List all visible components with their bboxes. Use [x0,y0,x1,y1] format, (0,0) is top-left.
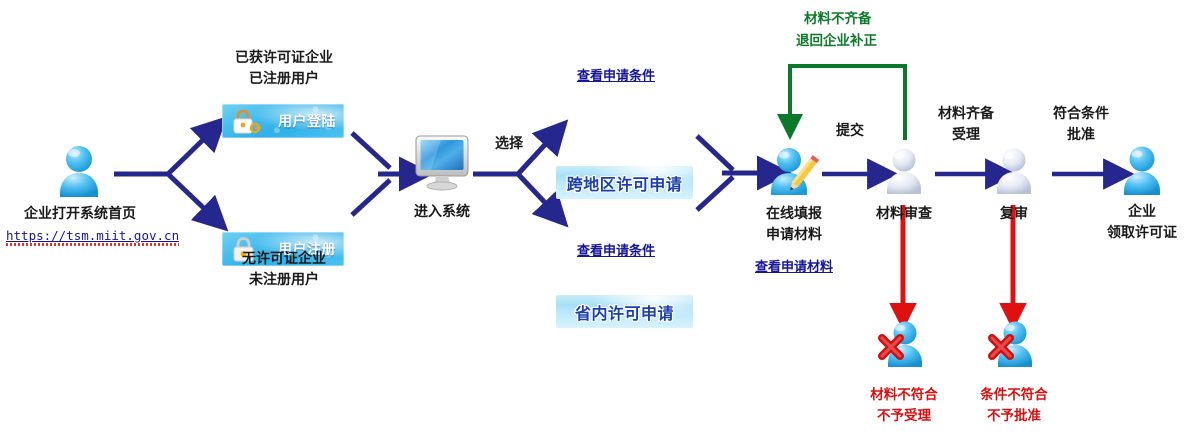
node-reject-condition [986,318,1042,378]
flowchart-canvas: 企业打开系统首页 https://tsm.miit.gov.cn 已获许可证企业… [0,0,1189,446]
in-province-conditions-link[interactable]: 查看申请条件 [577,243,655,260]
person-pencil-icon [764,144,822,202]
person-gray-icon-2 [988,146,1040,200]
person-blue-icon [48,142,110,202]
submit-label: 提交 [822,122,878,141]
node-online-fill [764,144,822,206]
reject-condition-line2: 不予批准 [959,407,1069,426]
online-fill-label-line1: 在线填报 [748,205,840,224]
person-reject-icon [876,318,932,374]
monitor-icon [411,132,473,194]
view-application-materials-link[interactable]: 查看申请材料 [755,259,833,276]
node-receive-permit [1113,143,1171,205]
person-reject-icon-2 [986,318,1042,374]
node-second-review [988,146,1040,204]
reject-material-line2: 不予受理 [849,407,959,426]
cross-region-conditions-link[interactable]: 查看申请条件 [577,68,655,85]
reject-material-line1: 材料不符合 [849,386,959,405]
arrow-start-fork [114,133,211,215]
register-caption-line1: 无许可证企业 [210,250,358,269]
online-fill-label-line2: 申请材料 [748,226,840,245]
node-enter-system [411,132,473,198]
return-note-line2: 退回企业补正 [790,32,980,51]
cross-region-apply-button[interactable]: 跨地区许可申请 [556,166,693,199]
accept-label-line1: 材料齐备 [920,105,1012,124]
in-province-apply-label: 省内许可申请 [575,300,674,324]
login-caption-line2: 已注册用户 [210,70,358,89]
person-gray-icon [878,146,930,200]
accept-label-line2: 受理 [920,126,1012,145]
receive-permit-label-line2: 领取许可证 [1086,224,1189,243]
arrow-permits-merge [697,136,768,210]
user-login-label: 用户登陆 [278,111,336,131]
reject-condition-line1: 条件不符合 [959,386,1069,405]
register-caption-line2: 未注册用户 [210,271,358,290]
login-caption-line1: 已获许可证企业 [210,49,358,68]
node-reject-material [876,318,932,378]
start-label: 企业打开系统首页 [10,205,150,224]
receive-permit-label-line1: 企业 [1086,203,1189,222]
material-review-label: 材料审查 [858,205,950,224]
enter-system-label: 进入系统 [396,203,488,222]
choose-label: 选择 [487,135,531,154]
node-start [48,142,110,206]
cross-region-apply-label: 跨地区许可申请 [567,171,683,195]
approve-label-line1: 符合条件 [1035,105,1127,124]
lock-key-icon [228,107,264,137]
return-note-line1: 材料不齐备 [790,10,988,29]
second-review-label: 复审 [968,205,1060,224]
user-login-button[interactable]: 用户登陆 [222,104,344,138]
node-material-review [878,146,930,204]
start-url[interactable]: https://tsm.miit.gov.cn [6,228,179,246]
in-province-apply-button[interactable]: 省内许可申请 [556,295,693,328]
person-blue-icon-2 [1113,143,1171,201]
